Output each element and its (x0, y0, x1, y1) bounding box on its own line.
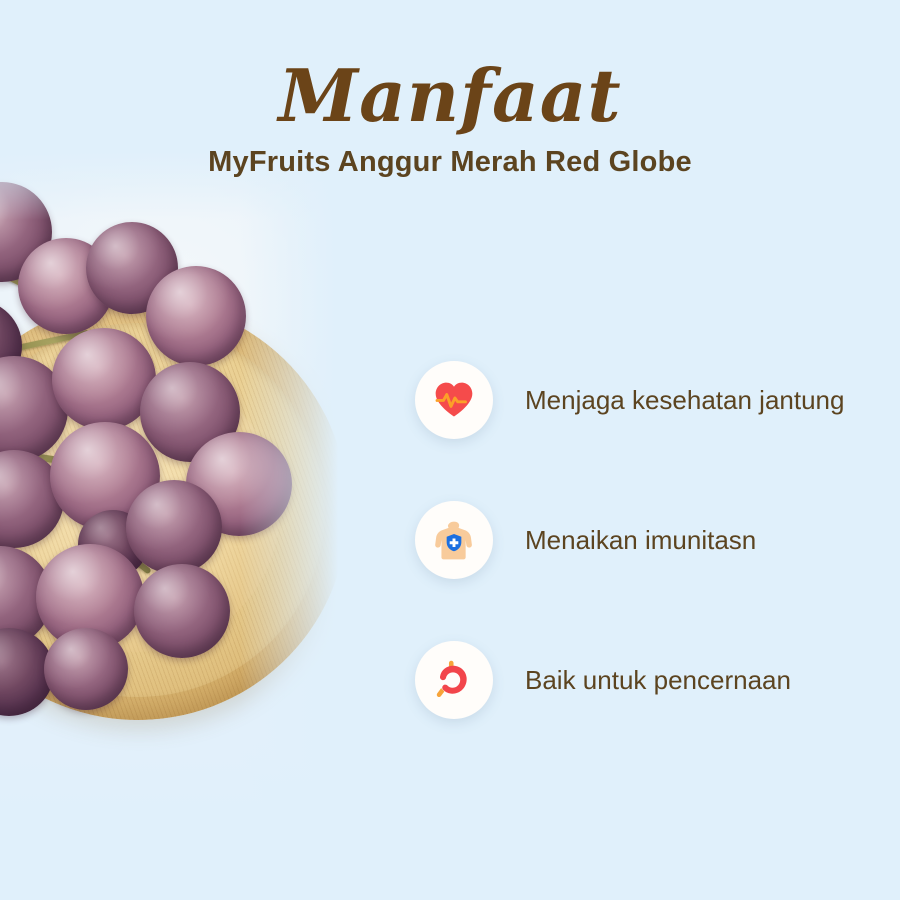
photo-bottom-fade (0, 740, 360, 850)
benefit-icon-badge (415, 361, 493, 439)
benefit-label: Menjaga kesehatan jantung (525, 382, 844, 419)
grapes-photo (0, 150, 360, 850)
benefits-list: Menjaga kesehatan jantung Menaikan imuni… (415, 330, 885, 750)
poster-header: Manfaat MyFruits Anggur Merah Red Globe (0, 0, 900, 179)
torso-shield-icon (432, 518, 476, 562)
page-subtitle: MyFruits Anggur Merah Red Globe (0, 146, 900, 179)
benefit-item-digestion: Baik untuk pencernaan (415, 610, 885, 750)
benefit-icon-badge (415, 501, 493, 579)
benefit-label: Baik untuk pencernaan (525, 662, 791, 699)
benefit-item-immunity: Menaikan imunitasn (415, 470, 885, 610)
page-title: Manfaat (0, 0, 900, 134)
benefit-label: Menaikan imunitasn (525, 522, 756, 559)
benefit-item-heart: Menjaga kesehatan jantung (415, 330, 885, 470)
benefit-icon-badge (415, 641, 493, 719)
promo-poster: Manfaat MyFruits Anggur Merah Red Globe … (0, 0, 900, 900)
stomach-icon (432, 658, 476, 702)
heart-pulse-icon (432, 378, 476, 422)
